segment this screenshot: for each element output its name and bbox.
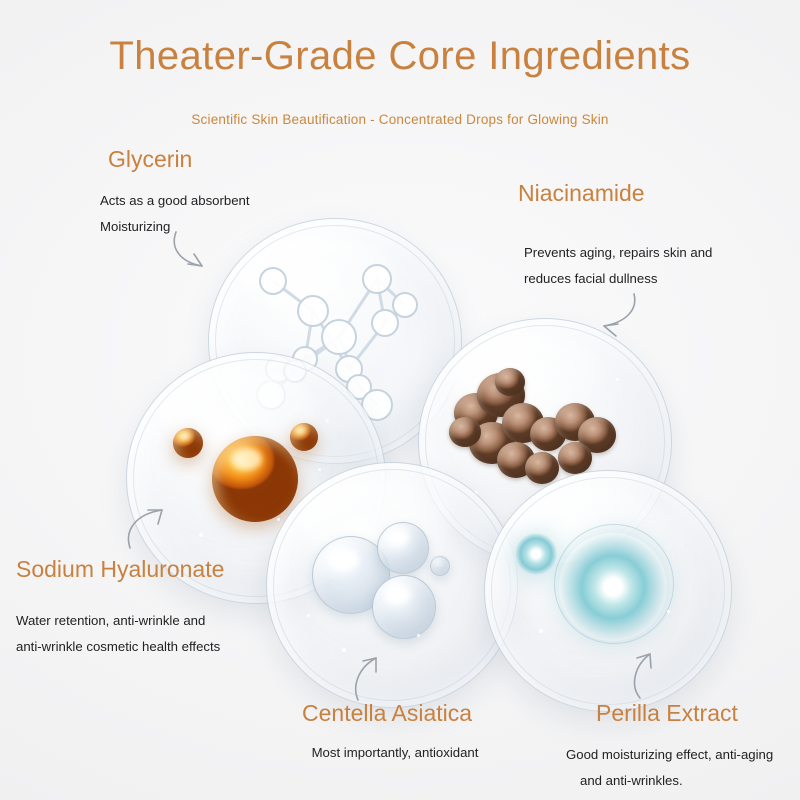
gel-bubble-tiny (430, 556, 450, 576)
ingredient-name-sodium-hyaluronate: Sodium Hyaluronate (16, 556, 224, 583)
gel-bubble-top (377, 522, 429, 574)
ingredient-description-niacinamide: Prevents aging, repairs skin and reduces… (524, 240, 712, 291)
ingredient-description-niacinamide-line2: reduces facial dullness (524, 266, 712, 292)
arrow-sodium-hyaluronate-icon (120, 498, 178, 556)
ingredient-description-sodium-hyaluronate: Water retention, anti-wrinkle and anti-w… (16, 608, 220, 659)
page-title: Theater-Grade Core Ingredients (0, 34, 800, 79)
ingredient-description-glycerin-line1: Acts as a good absorbent (100, 188, 250, 214)
ingredient-description-centella-asiatica: Most importantly, antioxidant (300, 740, 490, 766)
amber-droplet-large (212, 436, 298, 522)
ingredient-name-glycerin: Glycerin (108, 146, 192, 173)
ingredient-description-sodium-hyaluronate-line1: Water retention, anti-wrinkle and (16, 608, 220, 634)
ingredient-name-perilla-extract: Perilla Extract (596, 700, 738, 727)
ingredient-description-glycerin: Acts as a good absorbent Moisturizing (100, 188, 250, 239)
page-subtitle: Scientific Skin Beautification - Concent… (0, 112, 800, 127)
arrow-centella-asiatica-icon (344, 652, 394, 704)
ingredient-description-centella-asiatica-line1: Most importantly, antioxidant (300, 740, 490, 766)
petri-dish-perilla-extract (484, 470, 732, 712)
arrow-niacinamide-icon (588, 288, 644, 344)
ingredient-name-centella-asiatica: Centella Asiatica (302, 700, 472, 727)
ingredient-description-perilla-extract-line2: and anti-wrinkles. (566, 768, 773, 794)
ingredient-description-niacinamide-line1: Prevents aging, repairs skin and (524, 240, 712, 266)
teal-glow-small (515, 533, 557, 575)
gel-bubble-bottom (372, 575, 436, 639)
amber-droplet-small-right (290, 423, 318, 451)
amber-droplet-small-left (173, 428, 203, 458)
ingredient-description-glycerin-line2: Moisturizing (100, 214, 250, 240)
arrow-perilla-extract-icon (620, 648, 670, 702)
teal-glow-large (559, 533, 667, 641)
ingredients-infographic: Theater-Grade Core Ingredients Scientifi… (0, 0, 800, 800)
ingredient-description-sodium-hyaluronate-line2: anti-wrinkle cosmetic health effects (16, 634, 220, 660)
ingredient-description-perilla-extract-line1: Good moisturizing effect, anti-aging (566, 742, 773, 768)
ingredient-name-niacinamide: Niacinamide (518, 180, 645, 207)
ingredient-description-perilla-extract: Good moisturizing effect, anti-aging and… (566, 742, 773, 793)
